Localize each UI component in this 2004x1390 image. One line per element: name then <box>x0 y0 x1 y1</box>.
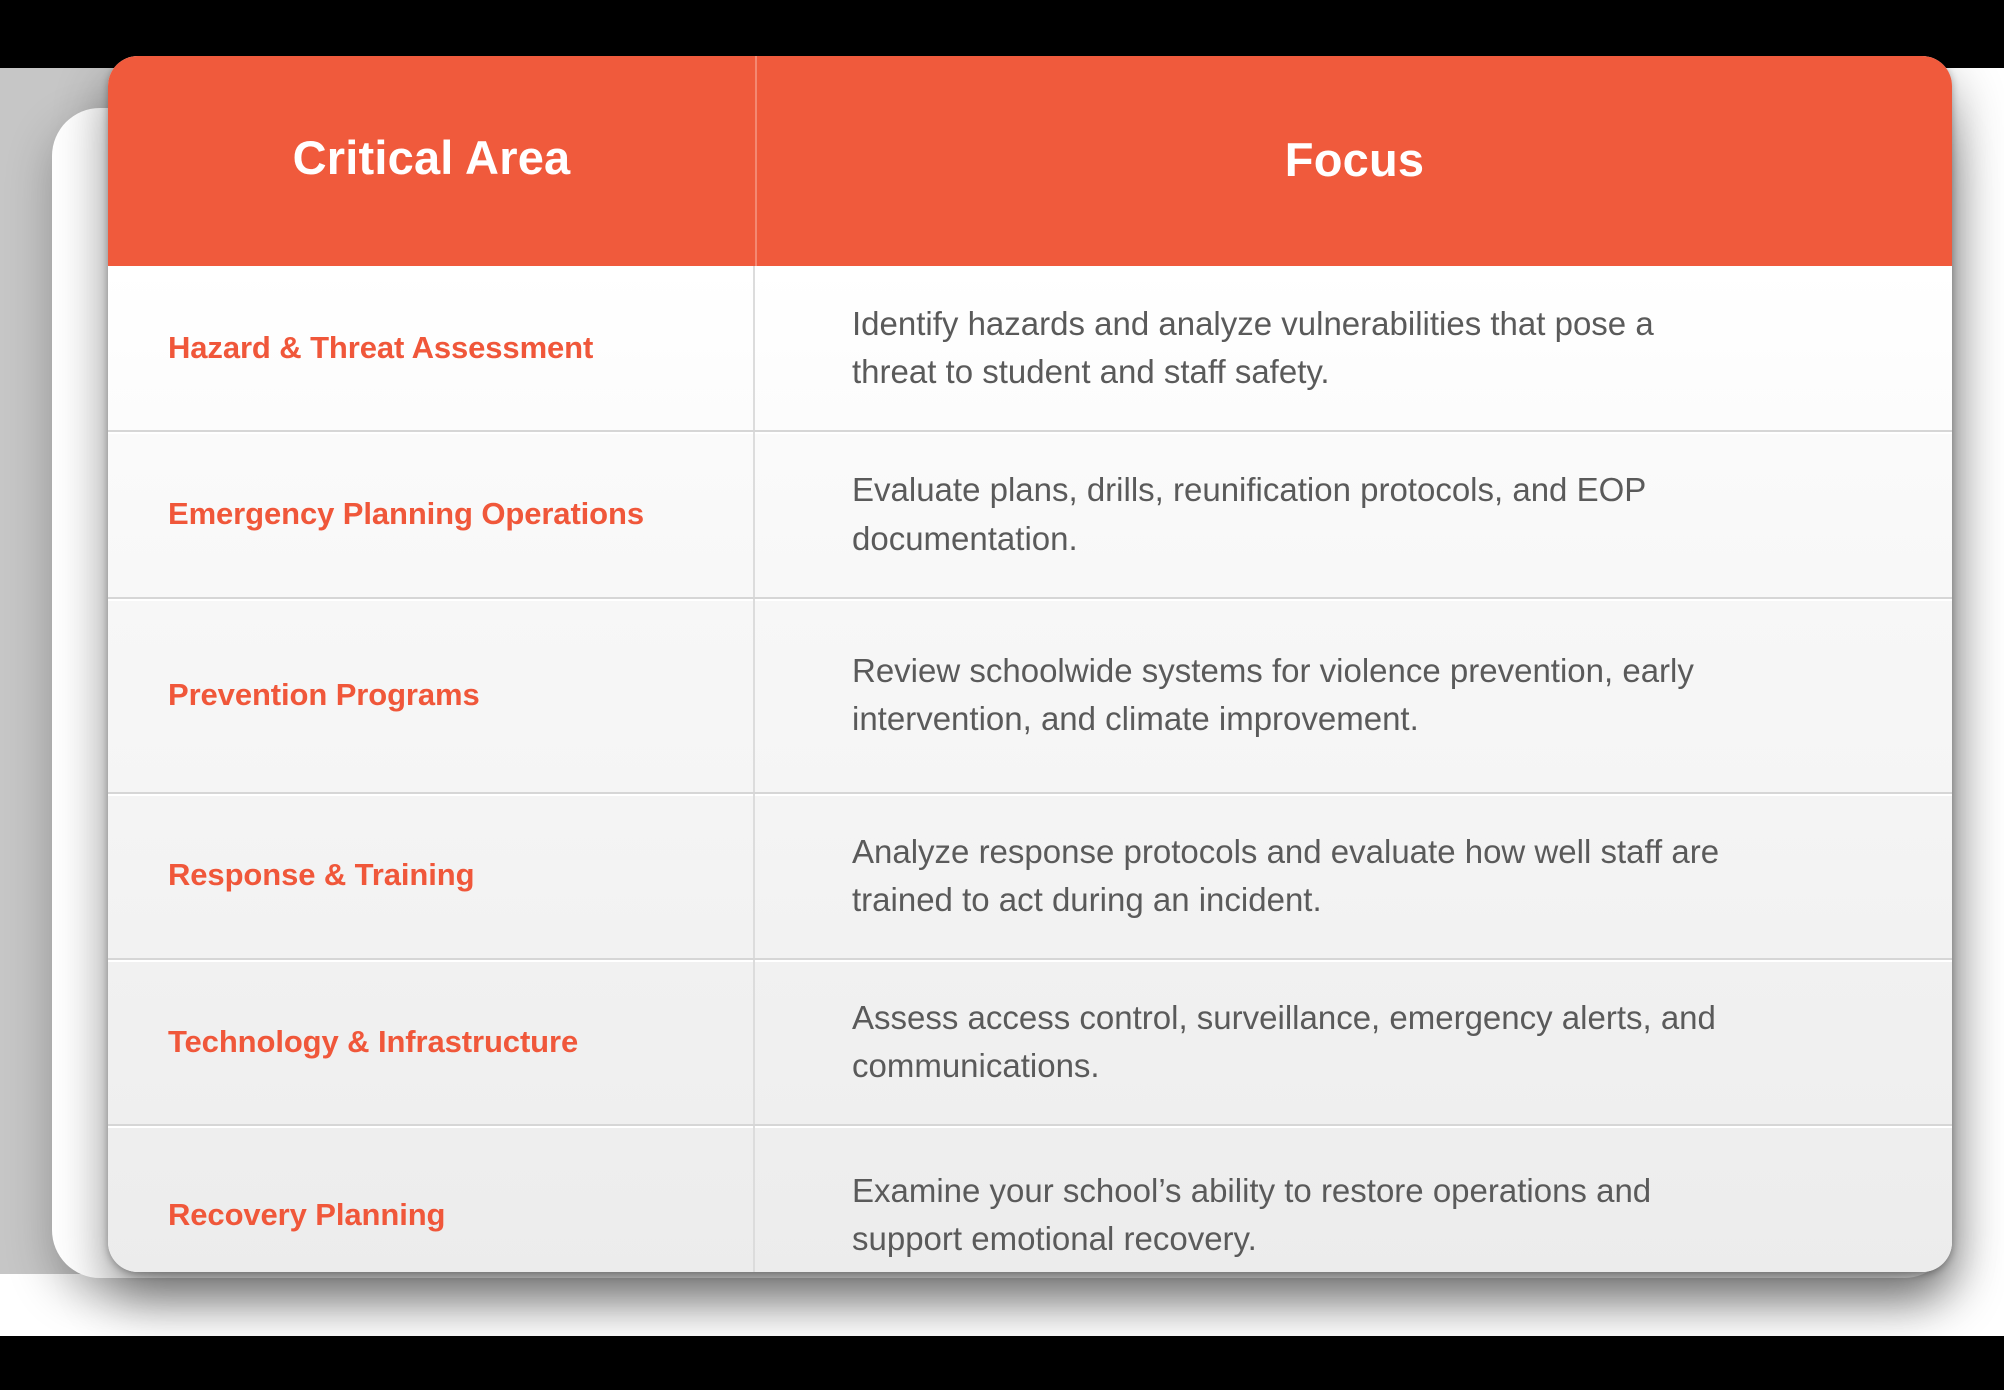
cell-critical-area: Hazard & Threat Assessment <box>108 266 755 430</box>
critical-area-label: Emergency Planning Operations <box>168 495 644 534</box>
cell-critical-area: Recovery Planning <box>108 1126 755 1272</box>
table-body: Hazard & Threat Assessment Identify haza… <box>108 266 1952 1272</box>
cell-focus: Identify hazards and analyze vulnerabili… <box>755 266 1952 430</box>
critical-areas-table: Critical Area Focus Hazard & Threat Asse… <box>108 56 1952 1272</box>
cell-critical-area: Technology & Infrastructure <box>108 960 755 1124</box>
critical-area-label: Recovery Planning <box>168 1196 445 1235</box>
table-row: Hazard & Threat Assessment Identify haza… <box>108 266 1952 432</box>
cell-critical-area: Prevention Programs <box>108 599 755 792</box>
cell-focus: Review schoolwide systems for violence p… <box>755 599 1952 792</box>
critical-area-label: Hazard & Threat Assessment <box>168 329 593 368</box>
cell-focus: Assess access control, surveillance, eme… <box>755 960 1952 1124</box>
critical-area-label: Prevention Programs <box>168 676 480 715</box>
screenshot-stage: Critical Area Focus Hazard & Threat Asse… <box>0 0 2004 1390</box>
critical-areas-table-card: Critical Area Focus Hazard & Threat Asse… <box>108 56 1952 1272</box>
table-row: Technology & Infrastructure Assess acces… <box>108 960 1952 1126</box>
cell-focus: Analyze response protocols and evaluate … <box>755 794 1952 958</box>
table-header-row: Critical Area Focus <box>108 56 1952 266</box>
column-header-critical-area: Critical Area <box>108 56 757 266</box>
focus-description: Analyze response protocols and evaluate … <box>852 828 1732 924</box>
cell-focus: Evaluate plans, drills, reunification pr… <box>755 432 1952 596</box>
focus-description: Identify hazards and analyze vulnerabili… <box>852 300 1732 396</box>
table-row: Recovery Planning Examine your school’s … <box>108 1126 1952 1272</box>
table-row: Prevention Programs Review schoolwide sy… <box>108 599 1952 794</box>
focus-description: Examine your school’s ability to restore… <box>852 1167 1732 1263</box>
table-row: Emergency Planning Operations Evaluate p… <box>108 432 1952 598</box>
critical-area-label: Response & Training <box>168 856 474 895</box>
table-row: Response & Training Analyze response pro… <box>108 794 1952 960</box>
column-header-focus: Focus <box>757 56 1952 266</box>
cell-critical-area: Emergency Planning Operations <box>108 432 755 596</box>
focus-description: Review schoolwide systems for violence p… <box>852 647 1732 743</box>
focus-description: Assess access control, surveillance, eme… <box>852 994 1732 1090</box>
critical-area-label: Technology & Infrastructure <box>168 1023 578 1062</box>
cell-critical-area: Response & Training <box>108 794 755 958</box>
cell-focus: Examine your school’s ability to restore… <box>755 1126 1952 1272</box>
focus-description: Evaluate plans, drills, reunification pr… <box>852 466 1732 562</box>
